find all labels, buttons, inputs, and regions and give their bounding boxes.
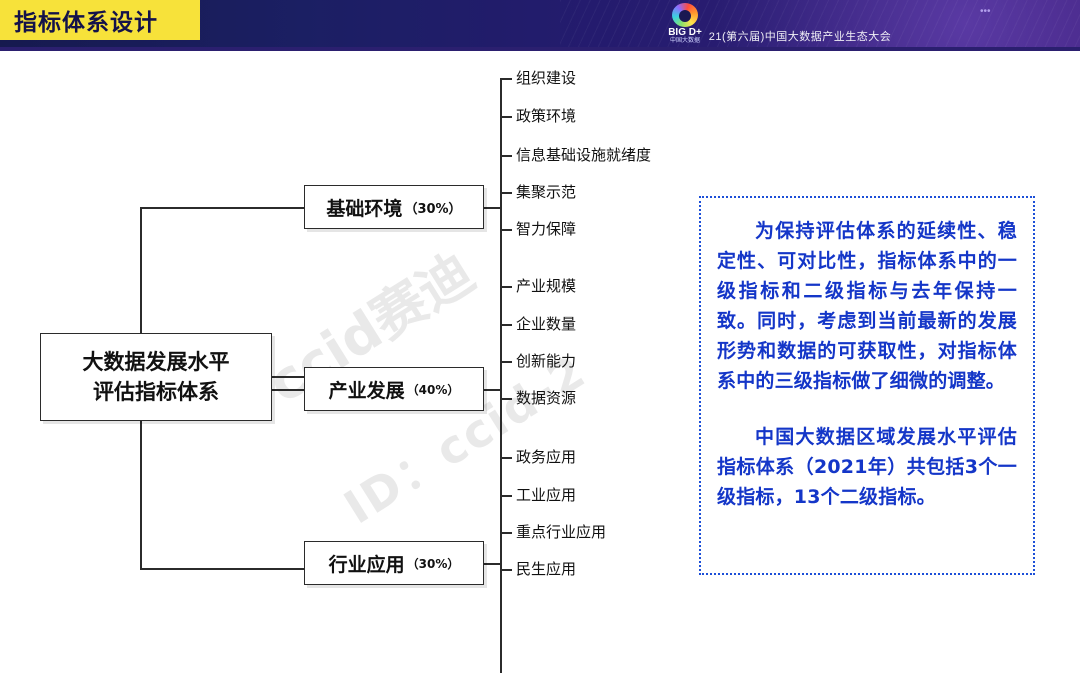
note-paragraph-2: 中国大数据区域发展水平评估指标体系（2021年）共包括3个一级指标，13个二级指…	[717, 422, 1017, 512]
note-paragraph-1: 为保持评估体系的延续性、稳定性、可对比性，指标体系中的一级指标和二级指标与去年保…	[717, 216, 1017, 396]
leaf-node[interactable]: 重点行业应用	[516, 521, 606, 542]
connector-branch1-leaf-2	[500, 116, 512, 118]
leaf-node[interactable]: 政务应用	[516, 446, 576, 467]
connector-branch1-out	[484, 207, 500, 209]
header-dots-icon: •••	[980, 8, 991, 16]
connector-spine-to-branch-1	[140, 207, 304, 209]
branch-node-industry-development[interactable]: 产业发展 （40%）	[304, 367, 484, 411]
connector-branch1-leaf-4	[500, 192, 512, 194]
leaf-node[interactable]: 智力保障	[516, 218, 576, 239]
connector-branch1-leaf-1	[500, 78, 512, 80]
bigd-logo-name: BIG D+	[668, 28, 702, 38]
connector-branch2-leaf-2	[500, 324, 512, 326]
diagram-canvas: ccid赛迪 ID：ccid-2	[0, 51, 1080, 607]
leaf-node[interactable]: 组织建设	[516, 67, 576, 88]
connector-branch2-leaf-4	[500, 398, 512, 400]
slide-root: 指标体系设计 BIG D+ 中国大数据 21(第六届)中国大数据产业生态大会 •…	[0, 0, 1080, 607]
connector-root-out	[272, 376, 304, 378]
connector-branch2-spine-up	[500, 286, 502, 389]
leaf-node[interactable]: 产业规模	[516, 275, 576, 296]
connector-branch3-leaf-4	[500, 569, 512, 571]
branch-3-label: 行业应用	[329, 550, 405, 577]
leaf-node[interactable]: 集聚示范	[516, 181, 576, 202]
bigd-logo-sub: 中国大数据	[670, 38, 700, 45]
leaf-node[interactable]: 数据资源	[516, 387, 576, 408]
connector-branch2-leaf-3	[500, 361, 512, 363]
branch-1-label: 基础环境	[326, 194, 402, 221]
branch-2-percent: （40%）	[407, 381, 460, 398]
bigd-logo-icon	[672, 3, 698, 27]
connector-branch3-out	[484, 563, 500, 565]
connector-branch1-spine-up	[500, 78, 502, 207]
connector-branch3-leaf-1	[500, 457, 512, 459]
slide-title-chip: 指标体系设计	[0, 0, 200, 40]
leaf-node[interactable]: 信息基础设施就绪度	[516, 144, 651, 165]
leaf-node[interactable]: 政策环境	[516, 105, 576, 126]
bigd-logo: BIG D+ 中国大数据	[655, 3, 715, 45]
connector-spine-to-branch-3	[140, 568, 304, 570]
branch-node-industry-application[interactable]: 行业应用 （30%）	[304, 541, 484, 585]
root-node-line-2: 评估指标体系	[93, 377, 219, 407]
conference-banner-text: 21(第六届)中国大数据产业生态大会	[709, 28, 892, 44]
root-node-line-1: 大数据发展水平	[83, 347, 230, 377]
connector-branch3-spine-up	[500, 457, 502, 563]
leaf-node[interactable]: 工业应用	[516, 484, 576, 505]
connector-branch2-out	[484, 389, 500, 391]
leaf-node[interactable]: 民生应用	[516, 558, 576, 579]
leaf-node[interactable]: 创新能力	[516, 350, 576, 371]
leaf-node[interactable]: 企业数量	[516, 313, 576, 334]
root-node[interactable]: 大数据发展水平 评估指标体系	[40, 333, 272, 421]
branch-3-percent: （30%）	[407, 555, 460, 572]
connector-branch3-leaf-2	[500, 495, 512, 497]
branch-1-percent: （30%）	[404, 198, 461, 217]
connector-branch1-leaf-5	[500, 229, 512, 231]
connector-branch3-spine-down	[500, 563, 502, 673]
connector-branch2-leaf-1	[500, 286, 512, 288]
page-title: 指标体系设计	[14, 3, 158, 37]
slide-header: 指标体系设计 BIG D+ 中国大数据 21(第六届)中国大数据产业生态大会 •…	[0, 0, 1080, 47]
branch-node-basic-environment[interactable]: 基础环境 （30%）	[304, 185, 484, 229]
branch-2-label: 产业发展	[329, 376, 405, 403]
connector-branch1-leaf-3	[500, 155, 512, 157]
connector-branch3-leaf-3	[500, 532, 512, 534]
note-panel: 为保持评估体系的延续性、稳定性、可对比性，指标体系中的一级指标和二级指标与去年保…	[699, 196, 1035, 575]
